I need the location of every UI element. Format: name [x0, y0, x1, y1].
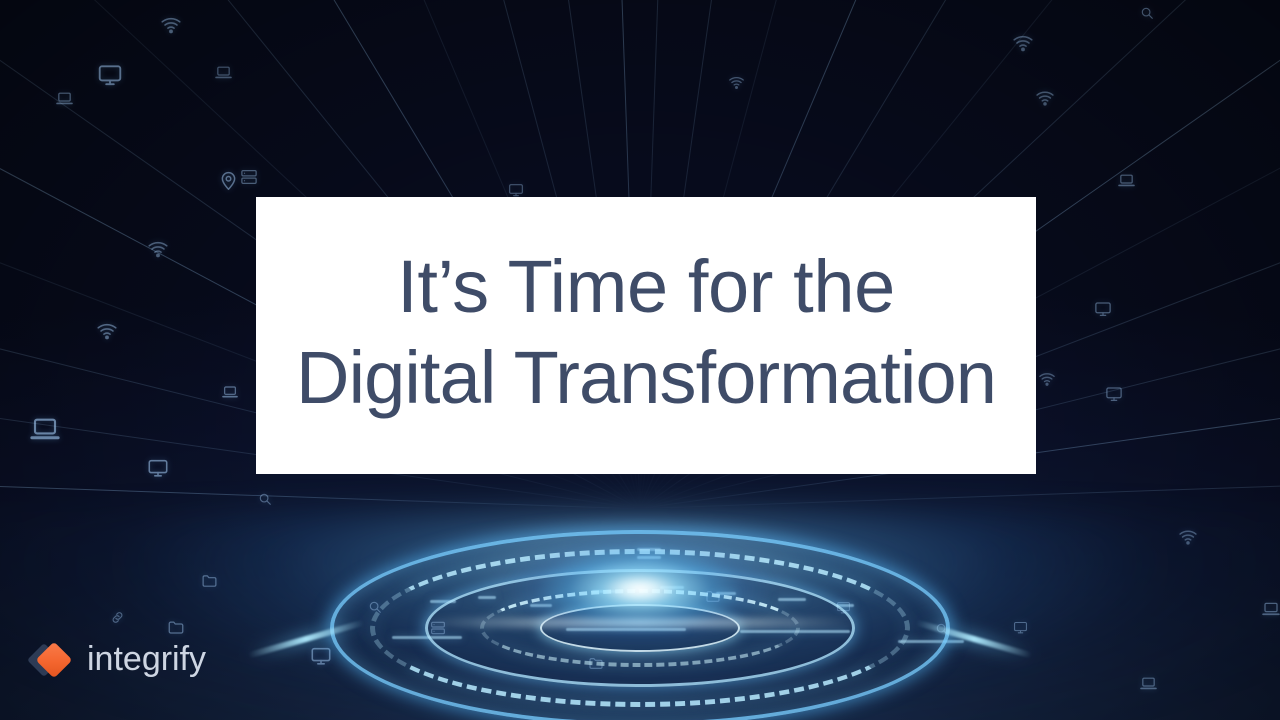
outer-ring	[330, 530, 950, 720]
outer-dashed-ring	[370, 549, 910, 707]
search-icon	[935, 622, 949, 636]
monitor-icon	[310, 645, 332, 667]
folder-icon	[167, 618, 185, 636]
integrify-diamond-icon	[30, 636, 78, 684]
wifi-icon	[160, 14, 182, 36]
hud-tick	[740, 630, 850, 633]
folder-icon	[201, 572, 218, 589]
inner-dashed-ring	[480, 589, 800, 667]
hud-tick	[716, 592, 736, 595]
database-icon	[430, 620, 446, 636]
wifi-icon	[1178, 527, 1198, 547]
laptop-icon	[30, 414, 60, 444]
hud-tick	[778, 598, 806, 601]
laptop-icon	[1140, 675, 1157, 692]
title-card: It’s Time for the Digital Transformation	[256, 197, 1036, 474]
monitor-icon	[1105, 385, 1123, 403]
laptop-icon	[215, 64, 232, 81]
pin-icon	[218, 170, 239, 191]
wifi-icon	[1038, 370, 1056, 388]
hud-tick	[530, 604, 552, 607]
integrify-wordmark: integrify	[87, 642, 206, 679]
title-line-2: Digital Transformation	[296, 333, 996, 423]
wifi-icon	[728, 74, 745, 91]
floor-glow	[0, 512, 1280, 720]
hud-tick	[836, 604, 854, 607]
middle-ring	[425, 569, 855, 687]
monitor-icon	[97, 62, 123, 88]
folder-icon	[705, 588, 721, 604]
laptop-icon	[222, 384, 238, 400]
wifi-icon	[1035, 88, 1055, 108]
hud-tick	[566, 628, 686, 631]
laptop-icon	[1118, 172, 1135, 189]
wifi-icon	[147, 238, 169, 260]
wifi-icon	[1012, 32, 1034, 54]
core-glow	[490, 514, 790, 664]
hud-tick	[430, 600, 456, 603]
left-arc-accent	[247, 620, 364, 659]
core-light-streak	[420, 619, 860, 627]
laptop-icon	[56, 90, 73, 107]
inner-ring	[540, 604, 740, 652]
monitor-icon	[1094, 300, 1112, 318]
hud-tick	[592, 590, 622, 593]
integrify-logo[interactable]: integrify	[30, 636, 206, 684]
hud-tick	[660, 586, 684, 589]
title-line-1: It’s Time for the	[397, 242, 895, 332]
hud-tick	[637, 556, 661, 559]
monitor-icon	[147, 457, 169, 479]
search-icon	[368, 600, 382, 614]
server-icon	[240, 168, 258, 186]
right-arc-accent	[915, 620, 1032, 659]
link-icon	[110, 610, 125, 625]
holographic-ring-assembly	[260, 518, 1020, 720]
wifi-icon	[96, 320, 118, 342]
hud-tick	[478, 596, 496, 599]
monitor-icon	[836, 600, 851, 615]
search-icon	[1140, 6, 1154, 20]
monitor-icon	[508, 182, 524, 198]
hud-tick	[637, 548, 661, 551]
monitor-icon	[1013, 620, 1028, 635]
hud-tick	[392, 636, 462, 639]
slide-canvas: It’s Time for the Digital Transformation…	[0, 0, 1280, 720]
laptop-icon	[1262, 600, 1280, 618]
folder-icon	[588, 655, 604, 671]
hud-tick	[898, 640, 964, 643]
search-icon	[258, 492, 272, 506]
